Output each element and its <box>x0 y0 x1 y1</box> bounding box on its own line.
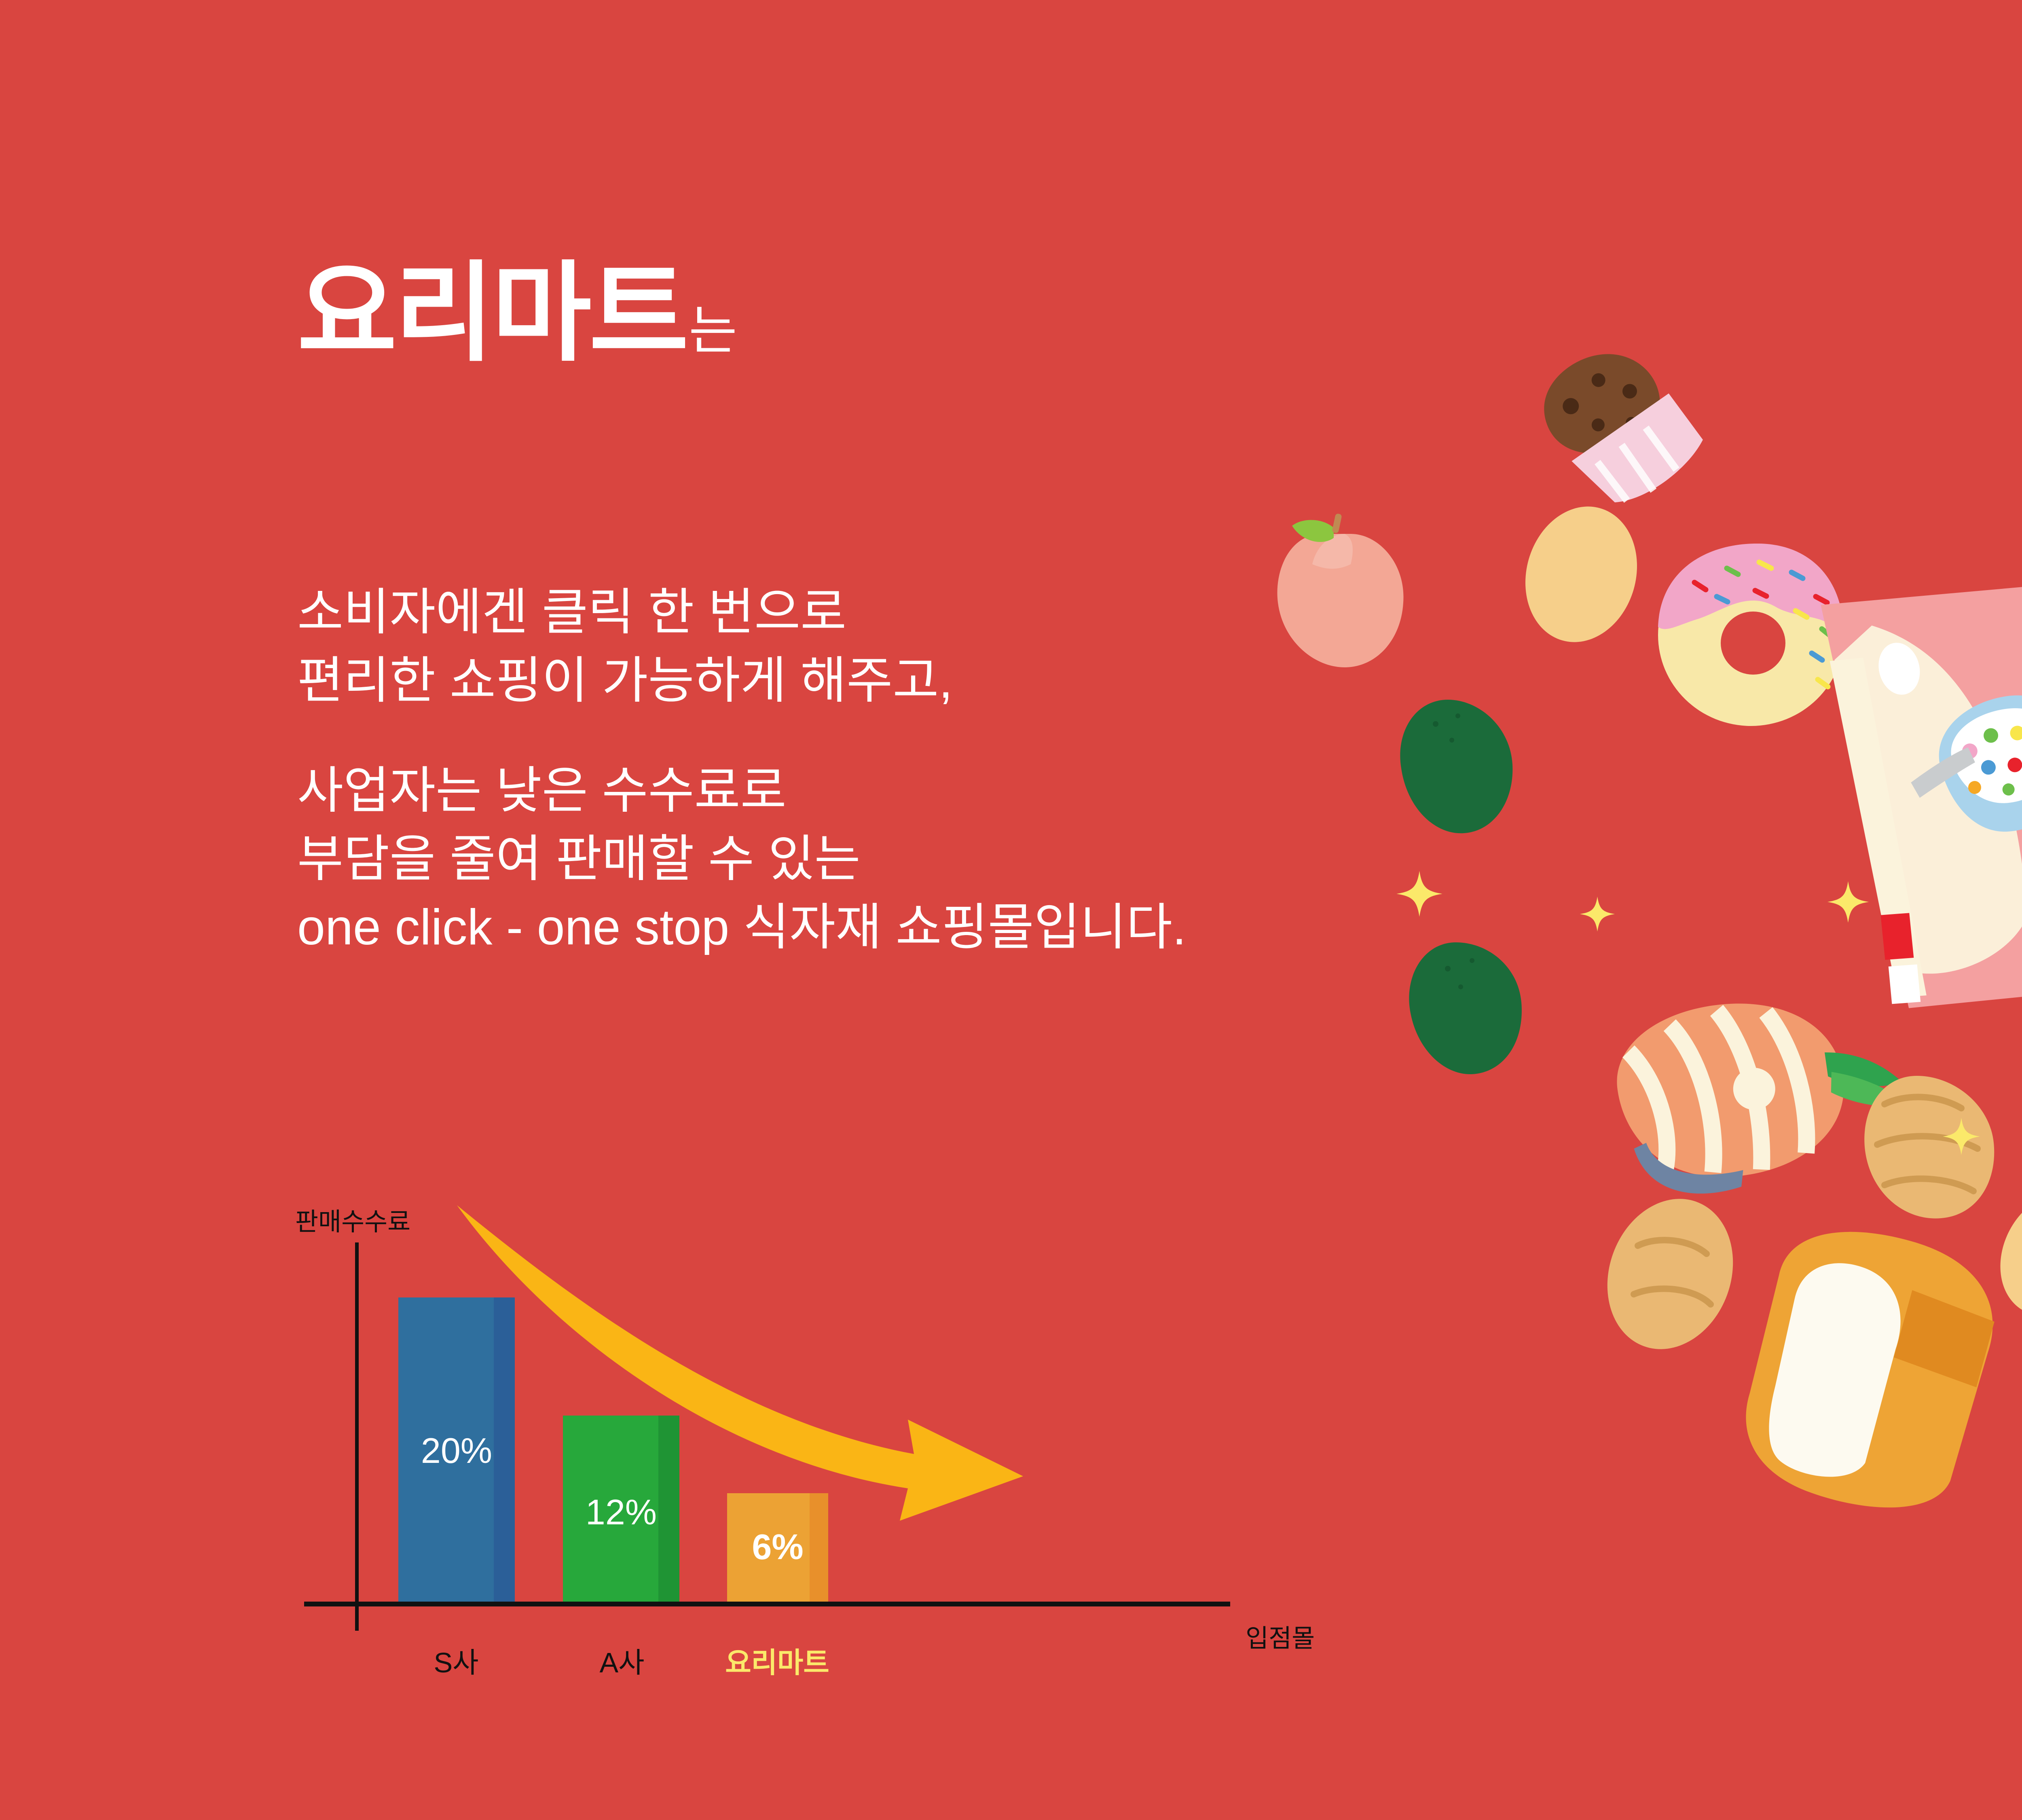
egg <box>1510 493 1652 655</box>
potato-icon <box>1587 1181 1753 1367</box>
onion-icon <box>1864 1076 1994 1219</box>
egg-icon-1 <box>1510 493 1652 655</box>
bread-slice-icon <box>1731 1214 2008 1525</box>
salmon-steak-icon <box>1608 980 1916 1204</box>
sparkle-icon-3 <box>1827 881 1869 923</box>
page-title: 요리마트 는 <box>297 259 737 367</box>
avocado-icon-1 <box>1400 700 1512 833</box>
downward-trend-arrow <box>283 1193 1415 1719</box>
poster-canvas: 요리마트 는 소비자에겐 클릭 한 번으로 편리한 쇼핑이 가능하게 해주고, … <box>0 0 2022 1820</box>
cereal-box-icon <box>1794 542 2022 1059</box>
commission-bar-chart: 판매수수료 입점몰 20% 12% 6% S사 A사 요리마트 <box>283 1193 1415 1719</box>
muffin-icon <box>1531 332 1713 517</box>
sparkle-icon-2 <box>1580 897 1615 931</box>
brand-name: 요리마트 <box>297 259 686 367</box>
cart-shadow <box>2010 1577 2022 1674</box>
avocado-icon-2 <box>1409 942 1522 1074</box>
donut-icon <box>1658 544 1844 726</box>
groceries-illustration <box>1274 344 2022 1759</box>
sparkle-icon-1 <box>1396 871 1442 916</box>
peach-icon <box>1277 513 1403 667</box>
brand-particle: 는 <box>689 304 737 367</box>
